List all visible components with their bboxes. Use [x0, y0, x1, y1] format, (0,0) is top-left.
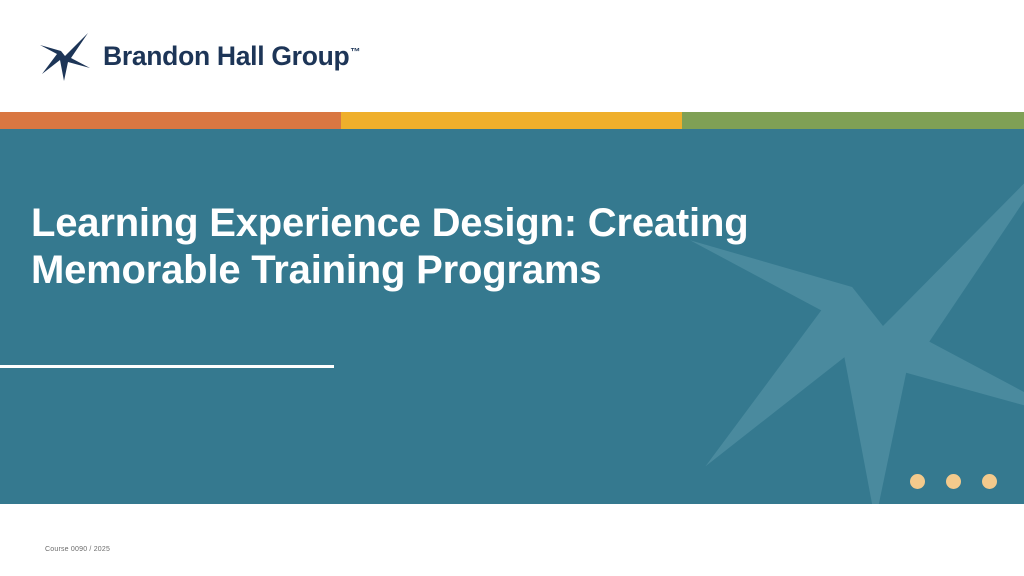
title-panel: Learning Experience Design: Creating Mem… [0, 129, 1024, 504]
slide-footer: Course 0090 / 2025 [0, 504, 1024, 576]
title-divider-rule [0, 365, 334, 368]
brand-logo: Brandon Hall Group™ [40, 31, 360, 81]
decorative-dot-grid [910, 474, 1000, 504]
trademark-symbol: ™ [350, 47, 360, 58]
page-title: Learning Experience Design: Creating Mem… [31, 200, 831, 294]
dot [910, 474, 925, 489]
dot [982, 474, 997, 489]
dot-row [910, 474, 1000, 489]
brand-name-text: Brandon Hall Group [103, 41, 349, 71]
four-pointed-star-watermark-icon [690, 131, 1024, 504]
dot [946, 474, 961, 489]
accent-segment-green [682, 112, 1024, 129]
accent-color-bar [0, 112, 1024, 129]
accent-segment-amber [341, 112, 682, 129]
title-slide: Brandon Hall Group™ Learning Experience … [0, 0, 1024, 576]
slide-header: Brandon Hall Group™ [0, 0, 1024, 112]
four-pointed-star-logo-icon [40, 31, 90, 81]
course-code-label: Course 0090 / 2025 [45, 546, 110, 553]
accent-segment-orange [0, 112, 341, 129]
brand-name: Brandon Hall Group™ [103, 43, 360, 70]
